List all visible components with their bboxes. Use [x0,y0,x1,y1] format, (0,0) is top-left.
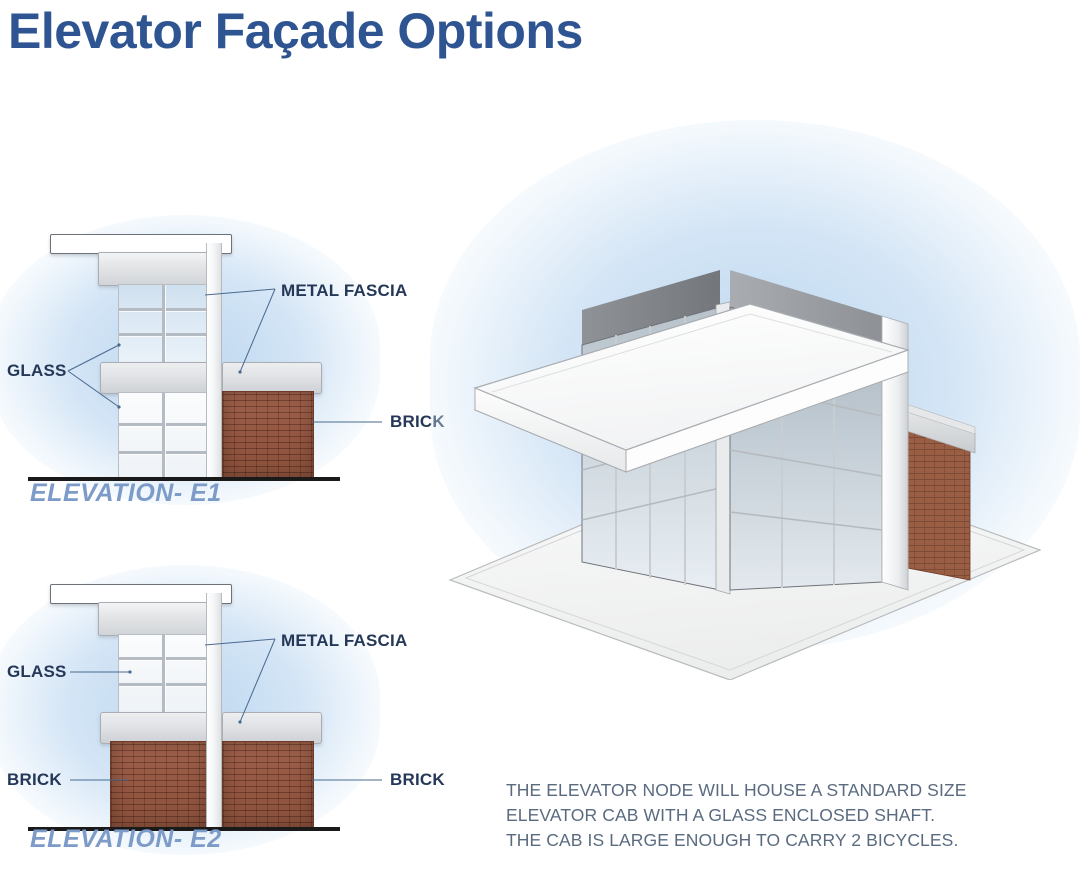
glass-upper-e1 [118,284,208,364]
elevation-e1-drawing [0,215,400,485]
annotation-brick-right-e2: BRICK [390,770,445,790]
annotation-glass-e1: GLASS [7,361,67,381]
annotation-metal-fascia-e2: METAL FASCIA [281,631,407,651]
caption-line-2: ELEVATOR CAB WITH A GLASS ENCLOSED SHAFT… [506,803,1006,828]
glass-e2 [118,634,208,714]
brick-wall-e1 [222,391,314,480]
mid-fascia-band-right-e1 [222,362,322,394]
mid-fascia-band-right-e2 [222,712,322,744]
brick-wall-right-e2 [222,741,314,830]
elevation-e1-caption: ELEVATION- E1 [30,479,222,508]
mid-fascia-band-e1 [100,362,222,394]
corner-mullion-e2 [206,593,222,828]
description-caption: THE ELEVATOR NODE WILL HOUSE A STANDARD … [506,778,1006,853]
page-title: Elevator Façade Options [8,2,583,60]
elevation-e2-drawing [0,565,400,835]
header-fascia-e1 [98,252,220,286]
caption-line-3: THE CAB IS LARGE ENOUGH TO CARRY 2 BICYC… [506,828,1006,853]
elevation-e2-caption: ELEVATION- E2 [30,825,222,854]
elevator-node-3d-rendering [430,120,1080,680]
caption-line-1: THE ELEVATOR NODE WILL HOUSE A STANDARD … [506,778,1006,803]
corner-mullion-e1 [206,243,222,478]
annotation-brick-left-e2: BRICK [7,770,62,790]
brick-wall-left-e2 [110,741,208,830]
header-fascia-e2 [98,602,220,636]
roof-cap-e2 [50,584,232,604]
mid-fascia-band-left-e2 [100,712,222,744]
annotation-glass-e2: GLASS [7,662,67,682]
roof-cap-e1 [50,234,232,254]
annotation-metal-fascia-e1: METAL FASCIA [281,281,407,301]
glass-lower-e1 [118,392,208,480]
